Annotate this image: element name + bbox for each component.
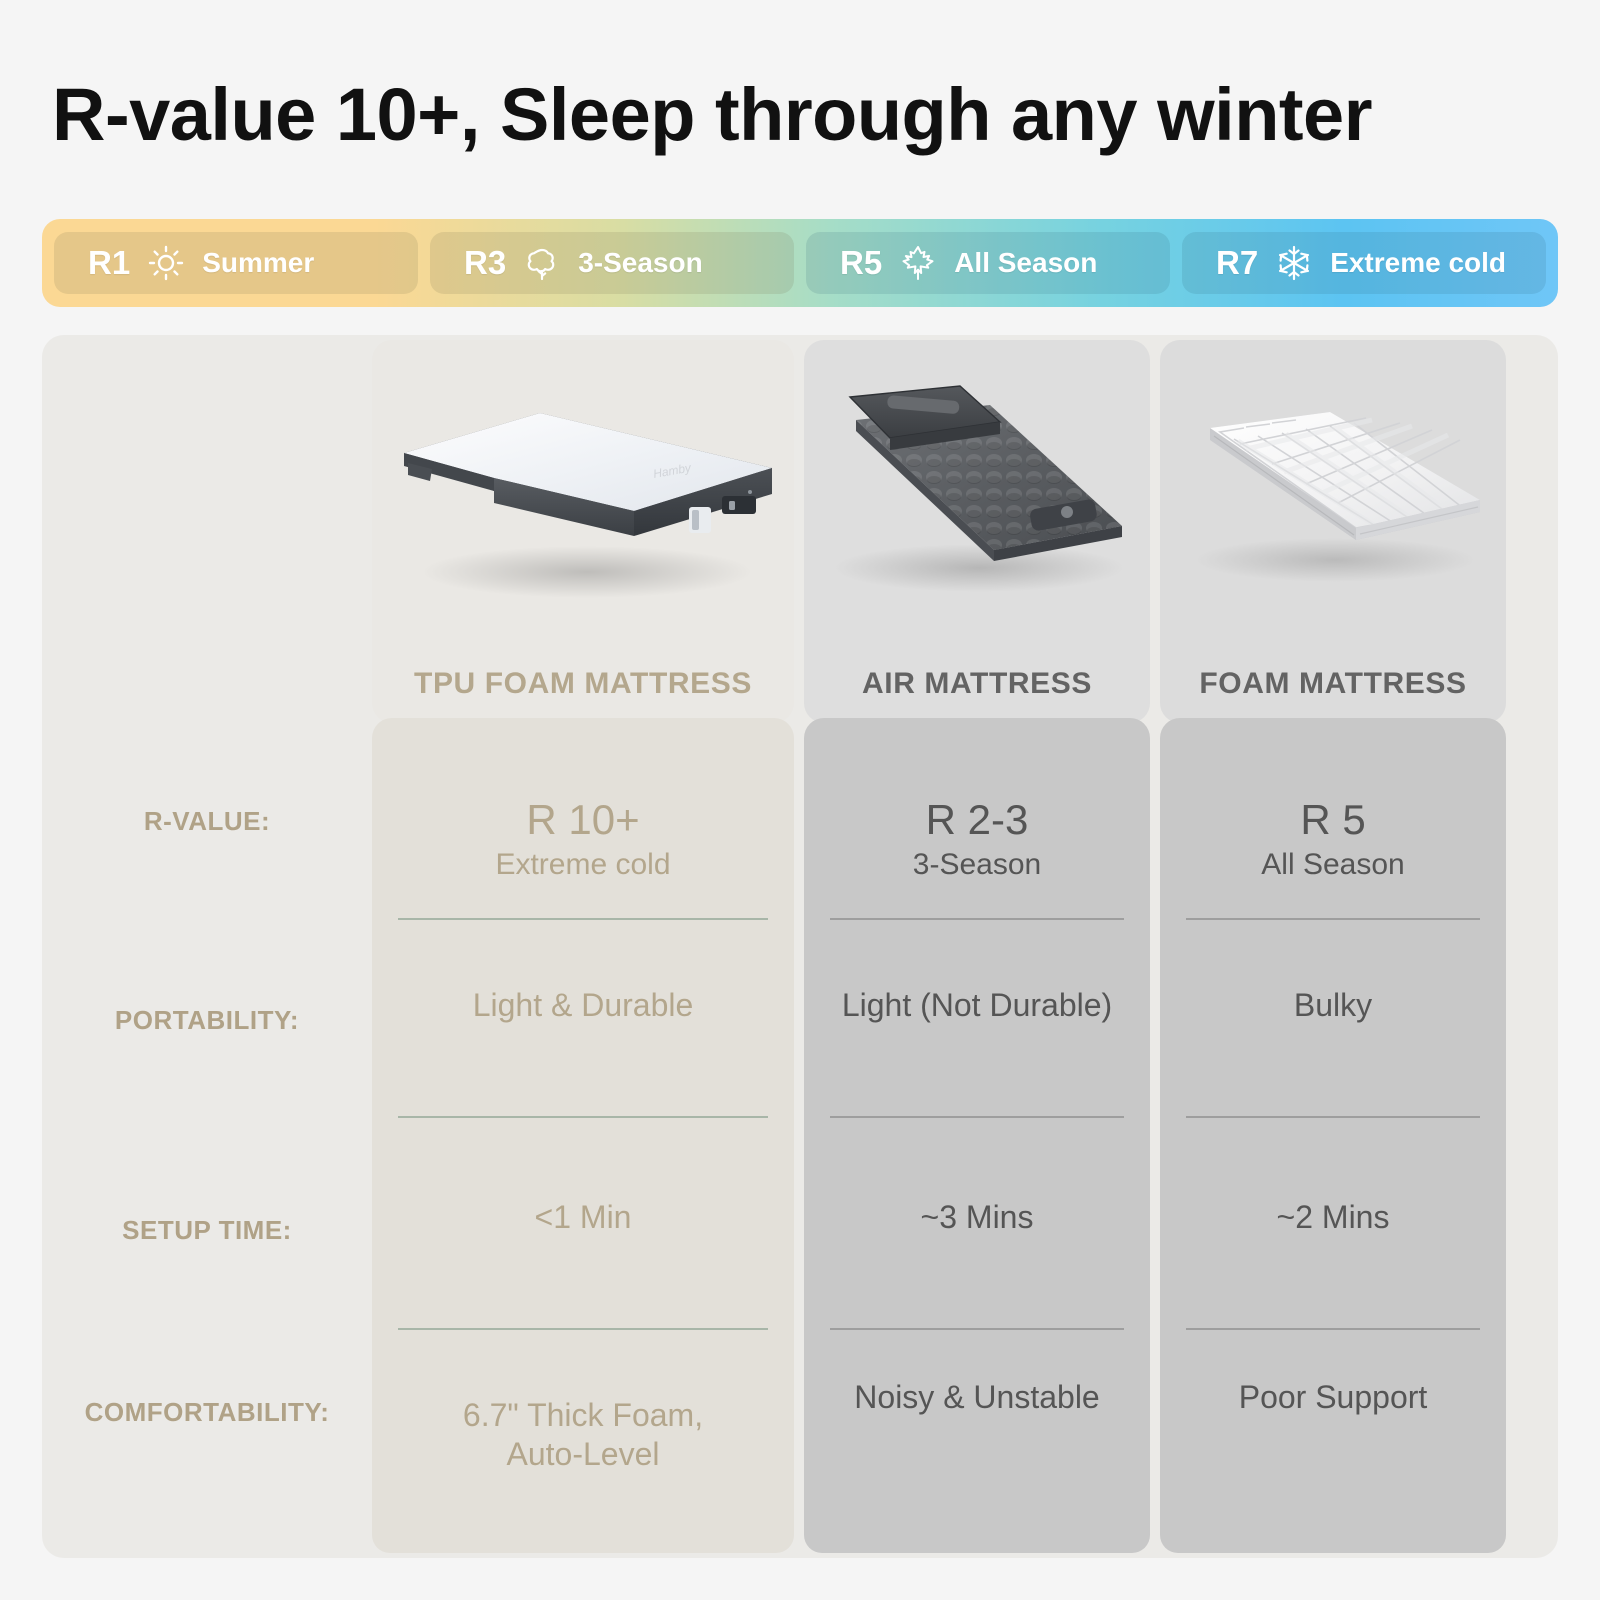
tree-icon bbox=[522, 243, 562, 283]
cell-air-comfortability: Noisy & Unstable bbox=[804, 1378, 1150, 1417]
row-label-portability: PORTABILITY: bbox=[42, 1005, 372, 1036]
product-name-air: AIR MATTRESS bbox=[804, 667, 1150, 701]
row-divider bbox=[1186, 918, 1480, 920]
cell-air-r-value: R 2-3 3-Season bbox=[804, 796, 1150, 882]
foam-mattress-image bbox=[1160, 350, 1506, 650]
r-value-pill-r5: R5 All Season bbox=[806, 232, 1170, 294]
row-label-setup-time: SETUP TIME: bbox=[42, 1215, 372, 1246]
cell-subvalue: 3-Season bbox=[818, 848, 1136, 882]
cell-value: R 10+ bbox=[386, 796, 780, 844]
cell-air-setup-time: ~3 Mins bbox=[804, 1198, 1150, 1237]
row-divider bbox=[830, 1328, 1124, 1330]
product-image-card-foam: FOAM MATTRESS bbox=[1160, 340, 1506, 723]
row-label-r-value: R-VALUE: bbox=[42, 806, 372, 837]
sun-icon bbox=[146, 243, 186, 283]
tpu-foam-mattress-image: Hamby bbox=[372, 350, 794, 650]
row-divider bbox=[1186, 1116, 1480, 1118]
cell-tpu-r-value: R 10+ Extreme cold bbox=[372, 796, 794, 882]
r-value-code: R5 bbox=[840, 244, 882, 282]
cell-value: Poor Support bbox=[1174, 1378, 1492, 1417]
r-value-code: R7 bbox=[1216, 244, 1258, 282]
cell-value: ~2 Mins bbox=[1174, 1198, 1492, 1237]
air-mattress-image bbox=[804, 350, 1150, 650]
r-value-label: 3-Season bbox=[578, 247, 703, 279]
r-value-pill-r7: R7 Extreme cold bbox=[1182, 232, 1546, 294]
cell-foam-portability: Bulky bbox=[1160, 986, 1506, 1025]
r-value-code: R3 bbox=[464, 244, 506, 282]
r-value-pill-r1: R1 Summer bbox=[54, 232, 418, 294]
product-image-card-air: AIR MATTRESS bbox=[804, 340, 1150, 723]
cell-foam-r-value: R 5 All Season bbox=[1160, 796, 1506, 882]
comparison-column-tpu: R 10+ Extreme cold Light & Durable <1 Mi… bbox=[372, 718, 794, 1553]
r-value-label: Summer bbox=[202, 247, 314, 279]
cell-foam-comfortability: Poor Support bbox=[1160, 1378, 1506, 1417]
row-divider bbox=[830, 1116, 1124, 1118]
r-value-label: All Season bbox=[954, 247, 1097, 279]
cell-value: Light (Not Durable) bbox=[818, 986, 1136, 1025]
r-value-pill-r3: R3 3-Season bbox=[430, 232, 794, 294]
row-label-column: R-VALUE: PORTABILITY: SETUP TIME: COMFOR… bbox=[42, 335, 372, 1558]
product-name-tpu: TPU FOAM MATTRESS bbox=[372, 667, 794, 701]
comparison-column-air: R 2-3 3-Season Light (Not Durable) ~3 Mi… bbox=[804, 718, 1150, 1553]
row-divider bbox=[398, 1328, 768, 1330]
cell-value: ~3 Mins bbox=[818, 1198, 1136, 1237]
row-divider bbox=[1186, 1328, 1480, 1330]
cell-subvalue: Extreme cold bbox=[386, 848, 780, 882]
r-value-label: Extreme cold bbox=[1330, 247, 1506, 279]
row-label-comfortability: COMFORTABILITY: bbox=[42, 1397, 372, 1428]
cell-foam-setup-time: ~2 Mins bbox=[1160, 1198, 1506, 1237]
cell-value: 6.7" Thick Foam, Auto-Level bbox=[386, 1396, 780, 1474]
comparison-panel: R-VALUE: PORTABILITY: SETUP TIME: COMFOR… bbox=[42, 335, 1558, 1558]
cell-value: Bulky bbox=[1174, 986, 1492, 1025]
page-title: R-value 10+, Sleep through any winter bbox=[52, 72, 1552, 157]
cell-value: Light & Durable bbox=[386, 986, 780, 1025]
snowflake-icon bbox=[1274, 243, 1314, 283]
cell-value: R 5 bbox=[1174, 796, 1492, 844]
maple-leaf-icon bbox=[898, 243, 938, 283]
row-divider bbox=[830, 918, 1124, 920]
cell-air-portability: Light (Not Durable) bbox=[804, 986, 1150, 1025]
cell-tpu-portability: Light & Durable bbox=[372, 986, 794, 1025]
cell-tpu-setup-time: <1 Min bbox=[372, 1198, 794, 1237]
r-value-code: R1 bbox=[88, 244, 130, 282]
r-value-scale-bar: R1 Summer R3 3-Season R5 bbox=[42, 219, 1558, 307]
cell-subvalue: All Season bbox=[1174, 848, 1492, 882]
cell-tpu-comfortability: 6.7" Thick Foam, Auto-Level bbox=[372, 1378, 794, 1492]
comparison-column-foam: R 5 All Season Bulky ~2 Mins Poor Suppor… bbox=[1160, 718, 1506, 1553]
cell-value: Noisy & Unstable bbox=[818, 1378, 1136, 1417]
row-divider bbox=[398, 918, 768, 920]
infographic-root: R-value 10+, Sleep through any winter R1… bbox=[0, 0, 1600, 1600]
cell-value: <1 Min bbox=[386, 1198, 780, 1237]
product-image-card-tpu: Hamby TPU FOAM MATTRESS bbox=[372, 340, 794, 723]
product-name-foam: FOAM MATTRESS bbox=[1160, 667, 1506, 701]
row-divider bbox=[398, 1116, 768, 1118]
cell-value: R 2-3 bbox=[818, 796, 1136, 844]
